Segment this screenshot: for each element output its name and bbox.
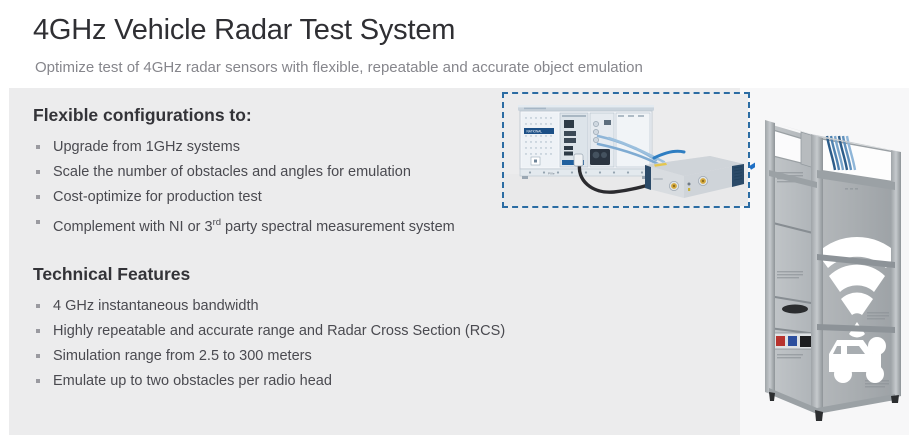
svg-text:NATIONAL: NATIONAL: [527, 130, 543, 134]
list-item: Emulate up to two obstacles per radio he…: [33, 369, 593, 394]
svg-text:PXIe: PXIe: [548, 172, 555, 176]
radio-head-callout-box: NATIONAL: [502, 92, 750, 208]
page-header: 4GHz Vehicle Radar Test System Optimize …: [0, 0, 909, 88]
list-item-ordinal-suffix: rd: [213, 217, 221, 228]
section-heading-technical: Technical Features: [33, 264, 593, 285]
list-item: Highly repeatable and accurate range and…: [33, 319, 593, 344]
bullet-list-technical: 4 GHz instantaneous bandwidth Highly rep…: [33, 294, 593, 394]
list-item-text-before: Complement with NI or 3: [53, 219, 213, 235]
page-subtitle: Optimize test of 4GHz radar sensors with…: [35, 59, 643, 76]
section-technical-features: Technical Features 4 GHz instantaneous b…: [33, 264, 593, 394]
list-item: 4 GHz instantaneous bandwidth: [33, 294, 593, 319]
list-item-text-after: party spectral measurement system: [221, 219, 455, 235]
radar-test-rack-photo: [755, 96, 909, 426]
page-title: 4GHz Vehicle Radar Test System: [33, 14, 455, 47]
pxi-radio-head-photo: NATIONAL: [504, 94, 748, 206]
list-item: Complement with NI or 3rd party spectral…: [33, 210, 593, 240]
list-item: Simulation range from 2.5 to 300 meters: [33, 344, 593, 369]
